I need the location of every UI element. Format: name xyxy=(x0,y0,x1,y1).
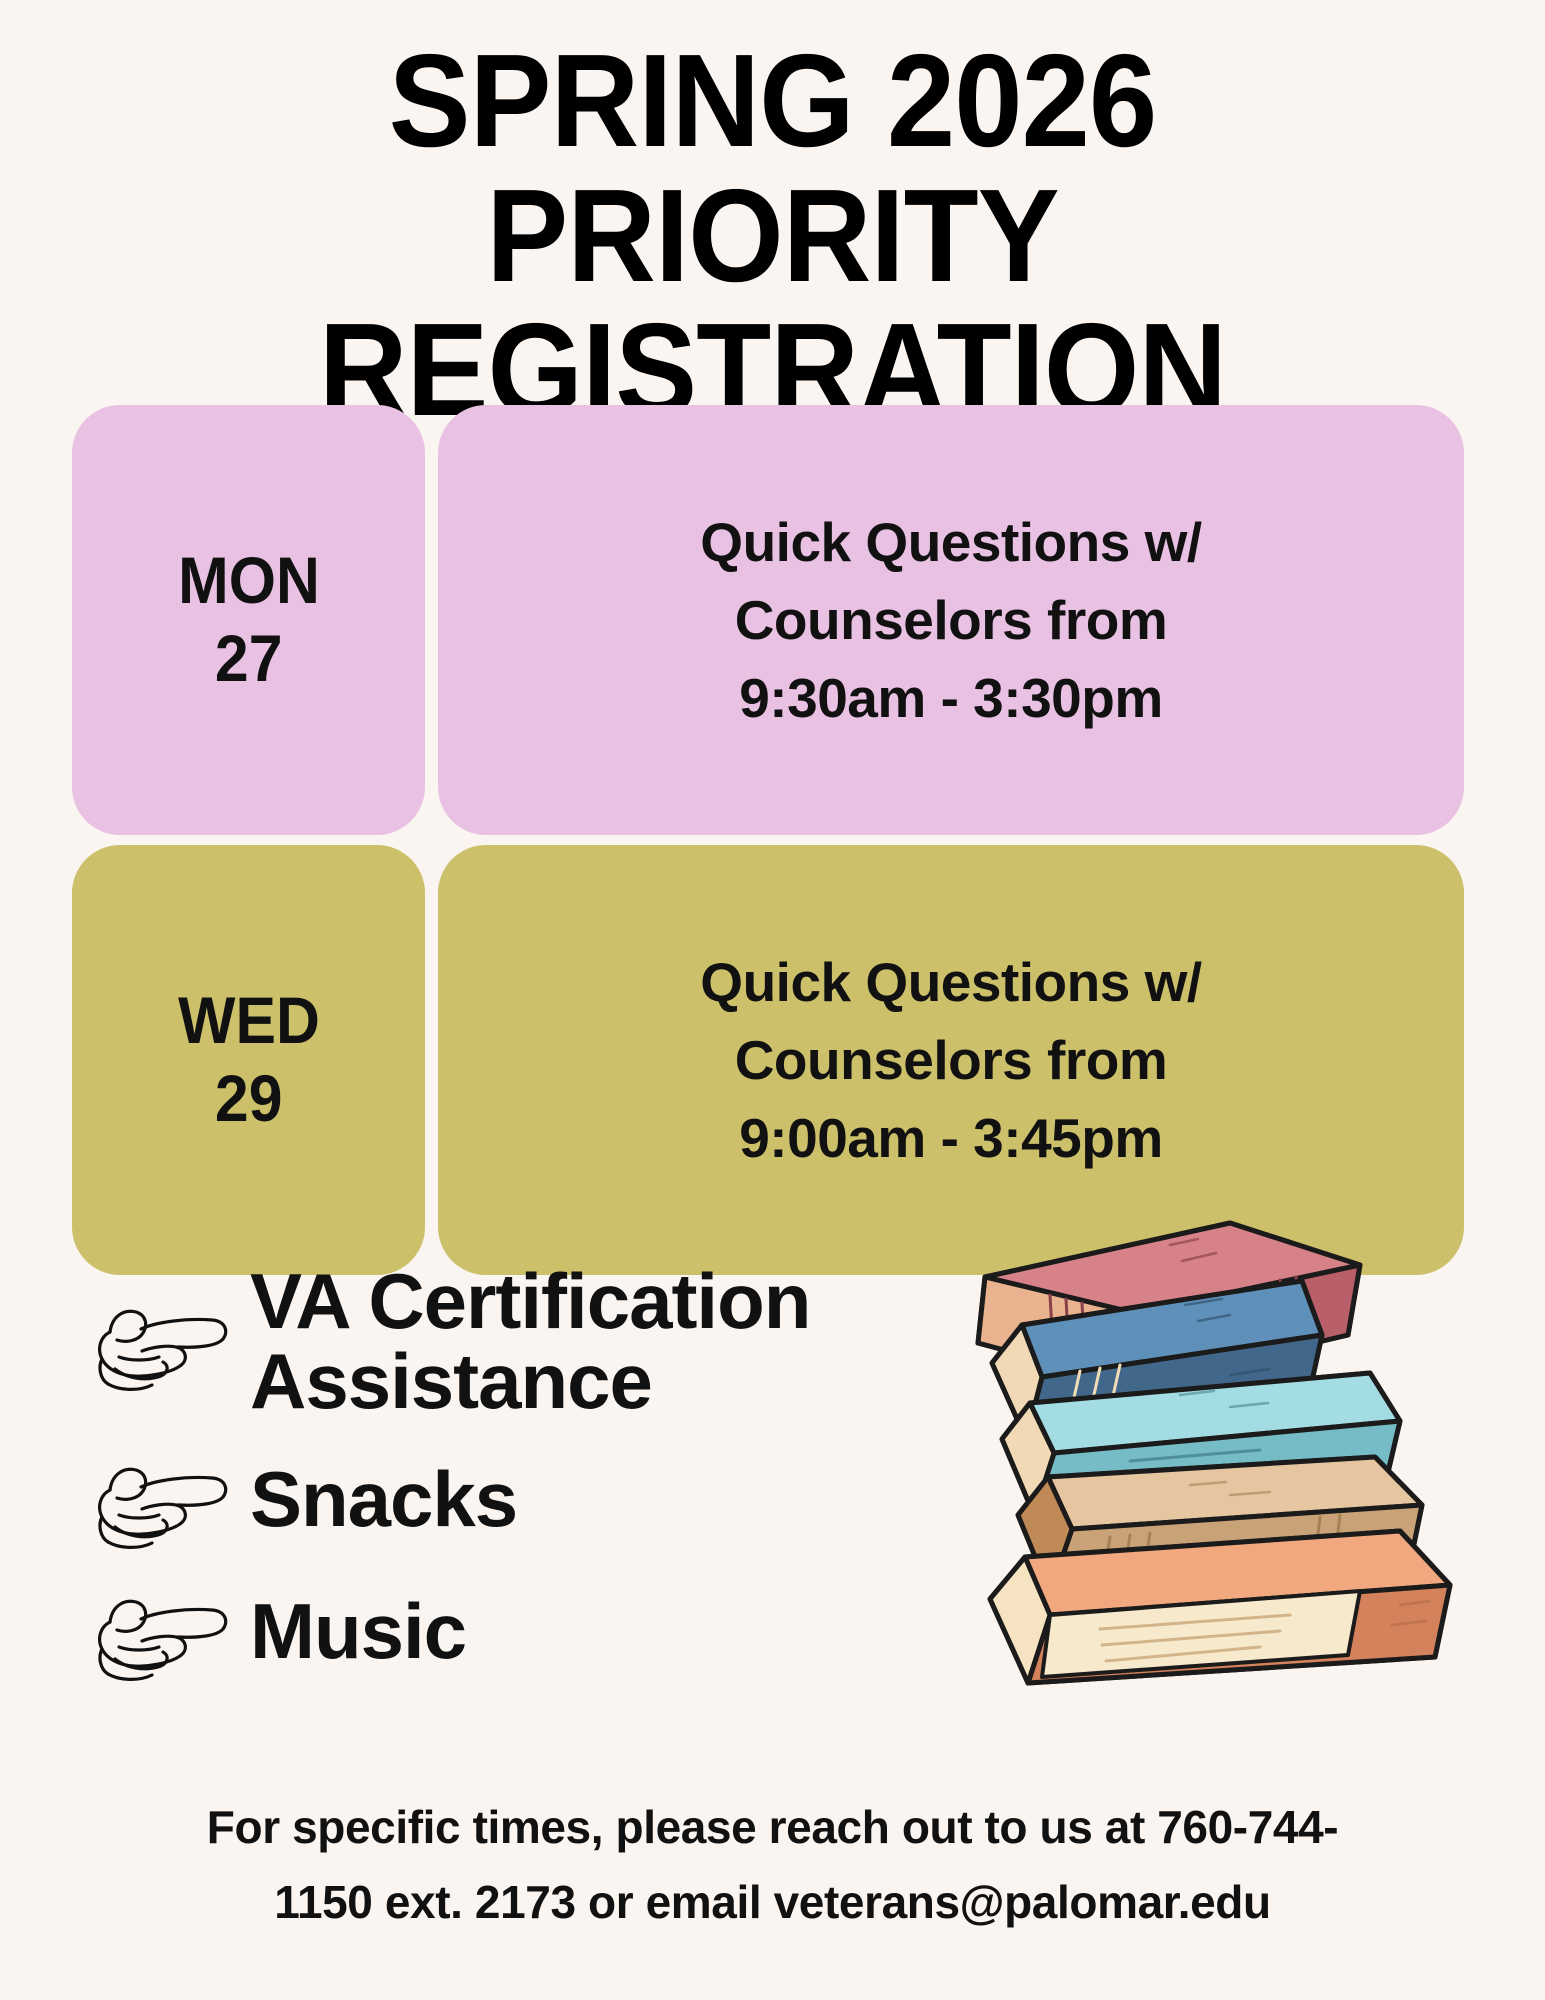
feature-item: Music xyxy=(86,1577,946,1687)
schedule-table: MON 27 Quick Questions w/ Counselors fro… xyxy=(72,405,1464,1285)
day-name-label: MON xyxy=(178,542,320,620)
schedule-day-cell: WED 29 xyxy=(72,845,425,1275)
features-list: VA Certification Assistance xyxy=(86,1262,946,1693)
page-title: SPRING 2026 PRIORITY REGISTRATION xyxy=(54,34,1491,438)
pointing-hand-icon xyxy=(86,1445,236,1555)
desc-line-2: Counselors from xyxy=(700,1021,1201,1099)
feature-label-line-1: Music xyxy=(250,1592,466,1672)
footer-line-2: 1150 ext. 2173 or email veterans@palomar… xyxy=(150,1865,1395,1940)
desc-line-3: 9:30am - 3:30pm xyxy=(700,659,1201,737)
title-line-1: SPRING 2026 xyxy=(54,34,1491,169)
day-number-label: 29 xyxy=(215,1060,283,1138)
day-number-label: 27 xyxy=(215,620,283,698)
feature-label: Snacks xyxy=(236,1460,517,1540)
pointing-hand-icon xyxy=(86,1577,236,1687)
schedule-description-text: Quick Questions w/ Counselors from 9:30a… xyxy=(700,503,1201,737)
stack-of-books-illustration xyxy=(930,1185,1490,1745)
feature-label-line-1: VA Certification xyxy=(250,1262,810,1342)
desc-line-1: Quick Questions w/ xyxy=(700,943,1201,1021)
desc-line-3: 9:00am - 3:45pm xyxy=(700,1099,1201,1177)
title-line-2: PRIORITY xyxy=(54,169,1491,304)
feature-label-line-2: Assistance xyxy=(250,1342,810,1422)
feature-label-line-1: Snacks xyxy=(250,1460,517,1540)
desc-line-1: Quick Questions w/ xyxy=(700,503,1201,581)
feature-label: Music xyxy=(236,1592,466,1672)
desc-line-2: Counselors from xyxy=(700,581,1201,659)
pointing-hand-icon xyxy=(86,1287,236,1397)
feature-item: Snacks xyxy=(86,1445,946,1555)
footer-line-1: For specific times, please reach out to … xyxy=(150,1790,1395,1865)
feature-item: VA Certification Assistance xyxy=(86,1262,946,1421)
schedule-day-cell: MON 27 xyxy=(72,405,425,835)
schedule-row-monday: MON 27 Quick Questions w/ Counselors fro… xyxy=(72,405,1464,835)
flyer-canvas: SPRING 2026 PRIORITY REGISTRATION MON 27… xyxy=(0,0,1545,2000)
feature-label: VA Certification Assistance xyxy=(236,1262,810,1421)
day-name-label: WED xyxy=(178,982,320,1060)
schedule-description-cell: Quick Questions w/ Counselors from 9:30a… xyxy=(438,405,1464,835)
contact-footer: For specific times, please reach out to … xyxy=(150,1790,1395,1939)
schedule-description-text: Quick Questions w/ Counselors from 9:00a… xyxy=(700,943,1201,1177)
